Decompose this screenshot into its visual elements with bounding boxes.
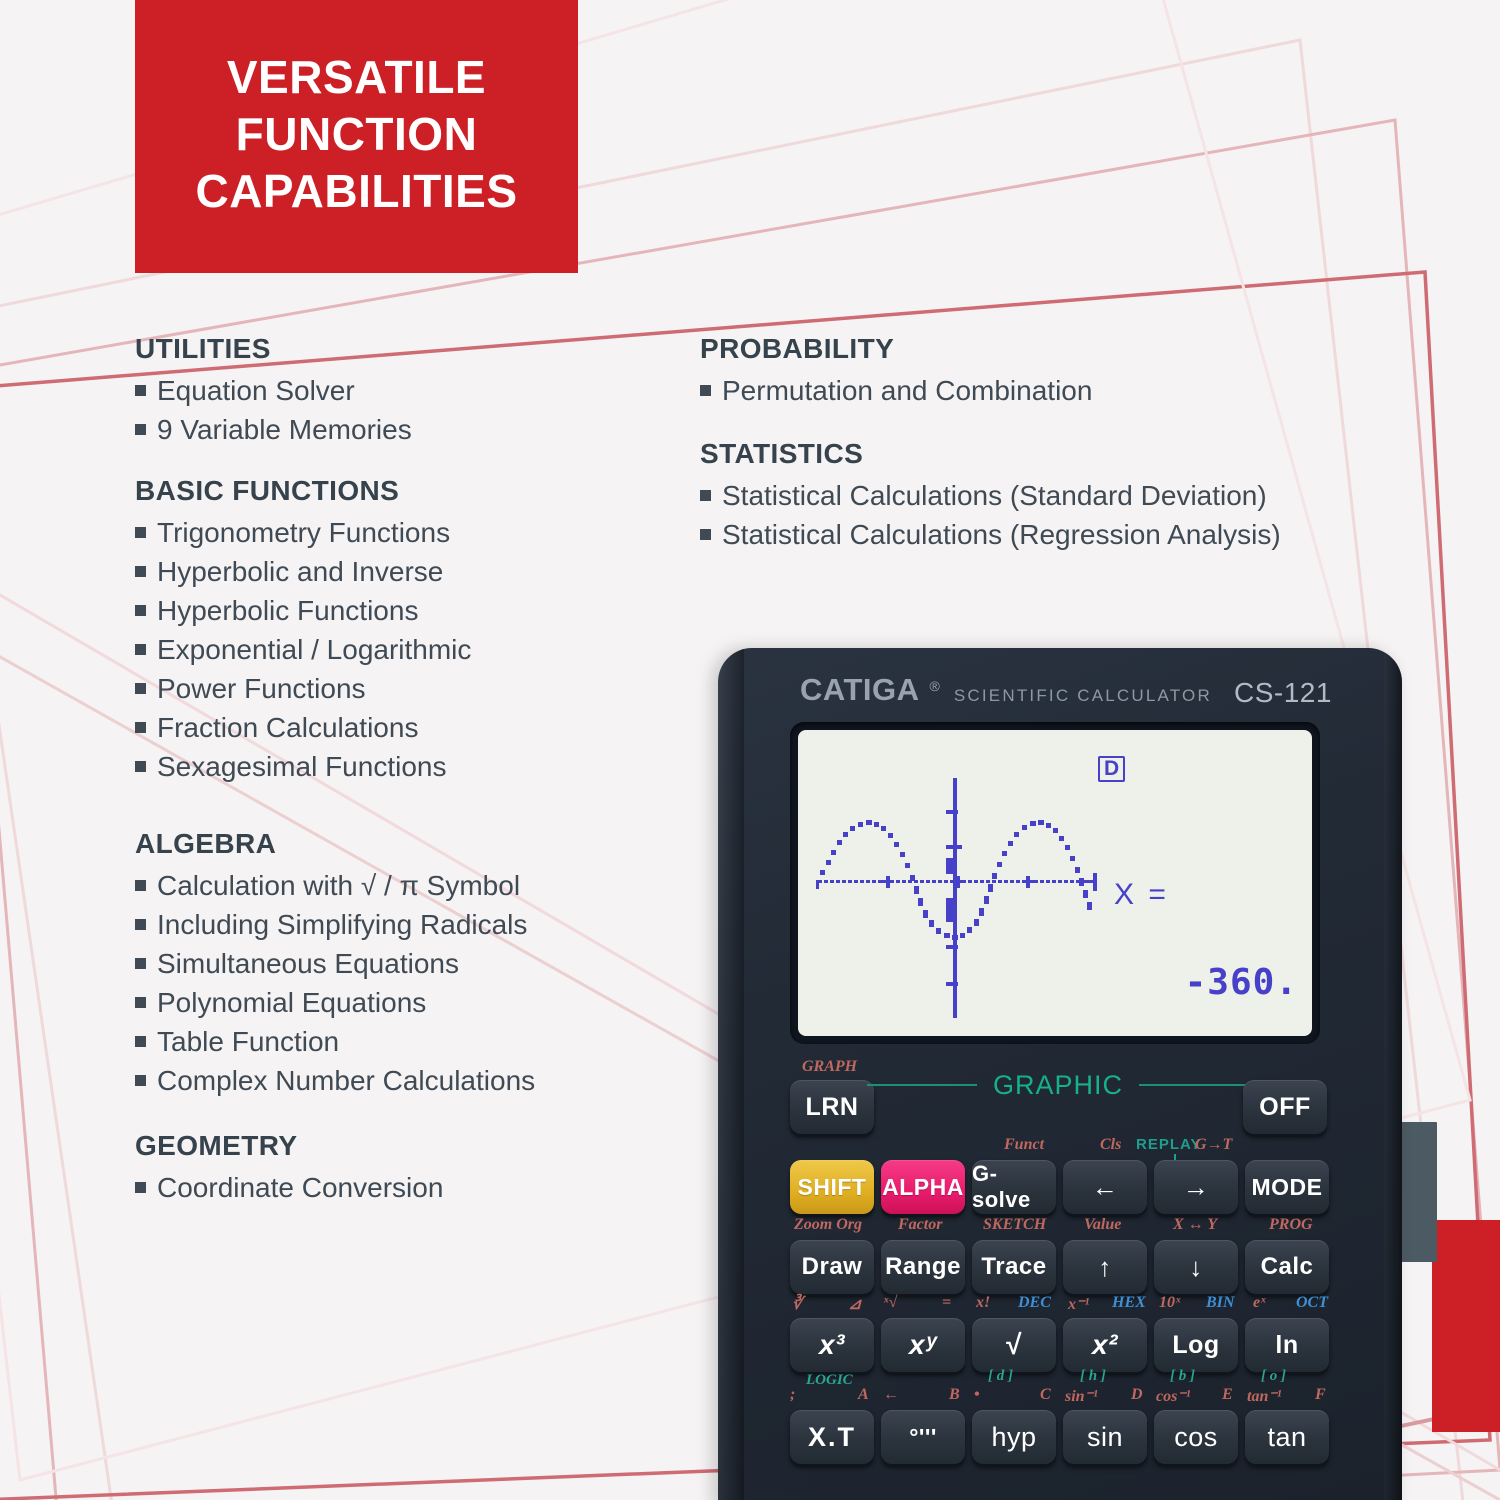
key-mode[interactable]: MODE bbox=[1245, 1160, 1329, 1214]
bullet-icon bbox=[135, 1182, 146, 1193]
bullet-icon bbox=[135, 997, 146, 1008]
key-label-bin: BIN bbox=[1206, 1294, 1234, 1312]
list-item: Table Function bbox=[135, 1022, 680, 1061]
calculator-device: CATIGA ® SCIENTIFIC CALCULATOR CS-121 bbox=[718, 648, 1402, 1500]
key-alpha[interactable]: ALPHA bbox=[881, 1160, 965, 1214]
key-x-squared[interactable]: x² bbox=[1063, 1318, 1147, 1372]
list-item-label: Fraction Calculations bbox=[157, 708, 418, 747]
list-item-label: Statistical Calculations (Standard Devia… bbox=[722, 476, 1267, 515]
list-item: Hyperbolic and Inverse bbox=[135, 552, 680, 591]
section-heading: PROBABILITY bbox=[700, 333, 1275, 365]
bullet-icon bbox=[135, 1075, 146, 1086]
key-label-bracket-d: [ d ] bbox=[988, 1368, 1013, 1385]
key-label-a: A bbox=[858, 1386, 869, 1404]
list-item: Hyperbolic Functions bbox=[135, 591, 680, 630]
key-label-bracket-b: [ b ] bbox=[1170, 1368, 1195, 1385]
list-item: Permutation and Combination bbox=[700, 371, 1275, 410]
key-g-solve[interactable]: G-solve bbox=[972, 1160, 1056, 1214]
key-label-hex: HEX bbox=[1112, 1294, 1146, 1312]
feature-list: Equation Solver 9 Variable Memories bbox=[135, 371, 680, 449]
list-item: Equation Solver bbox=[135, 371, 680, 410]
mode-indicator-badge: D bbox=[1098, 756, 1125, 782]
list-item: Calculation with √ / π Symbol bbox=[135, 866, 680, 905]
list-item: Exponential / Logarithmic bbox=[135, 630, 680, 669]
bullet-icon bbox=[135, 424, 146, 435]
feature-column-left: UTILITIES Equation Solver 9 Variable Mem… bbox=[135, 333, 680, 1233]
key-arrow-up[interactable]: ↑ bbox=[1063, 1240, 1147, 1294]
keypad-row-1: GRAPH LRN GRAPHIC OFF bbox=[718, 1058, 1402, 1138]
divider-right bbox=[1139, 1084, 1249, 1086]
calculator-keypad: GRAPH LRN GRAPHIC OFF Funct Cls REPLAY G… bbox=[718, 1058, 1402, 1458]
bullet-icon bbox=[135, 761, 146, 772]
key-label-cls: Cls bbox=[1100, 1136, 1121, 1154]
section-utilities: UTILITIES Equation Solver 9 Variable Mem… bbox=[135, 333, 680, 449]
list-item: Complex Number Calculations bbox=[135, 1061, 680, 1100]
list-item-label: Coordinate Conversion bbox=[157, 1168, 443, 1207]
key-label-sin-inverse: sin⁻¹ bbox=[1065, 1386, 1098, 1406]
list-item-label: Hyperbolic Functions bbox=[157, 591, 418, 630]
key-label-bracket-o: [ o ] bbox=[1261, 1368, 1286, 1385]
list-item-label: Calculation with √ / π Symbol bbox=[157, 866, 520, 905]
list-item-label: 9 Variable Memories bbox=[157, 410, 412, 449]
list-item: Polynomial Equations bbox=[135, 983, 680, 1022]
key-label-funct: Funct bbox=[1004, 1136, 1044, 1154]
bullet-icon bbox=[135, 527, 146, 538]
list-item-label: Exponential / Logarithmic bbox=[157, 630, 471, 669]
key-range[interactable]: Range bbox=[881, 1240, 965, 1294]
bullet-icon bbox=[700, 529, 711, 540]
key-arrow-down[interactable]: ↓ bbox=[1154, 1240, 1238, 1294]
key-label-value: Value bbox=[1084, 1216, 1121, 1234]
brand-name: CATIGA bbox=[800, 672, 920, 708]
lcd-bezel: D X = -360. bbox=[790, 722, 1320, 1044]
key-label-ten-pow-x: 10ˣ bbox=[1159, 1294, 1180, 1312]
key-sin[interactable]: sin bbox=[1063, 1410, 1147, 1464]
key-label-cube-root: ∛ bbox=[792, 1294, 802, 1314]
key-x-t[interactable]: X.T bbox=[790, 1410, 874, 1464]
list-item-label: Power Functions bbox=[157, 669, 366, 708]
section-heading: UTILITIES bbox=[135, 333, 680, 365]
key-label-x-swap-y: X ↔ Y bbox=[1173, 1216, 1217, 1234]
section-algebra: ALGEBRA Calculation with √ / π Symbol In… bbox=[135, 828, 680, 1100]
key-arrow-left[interactable]: ← bbox=[1063, 1160, 1147, 1214]
list-item: Coordinate Conversion bbox=[135, 1168, 680, 1207]
key-label-logic: LOGIC bbox=[806, 1372, 853, 1389]
page-title: VERSATILE FUNCTION CAPABILITIES bbox=[195, 49, 517, 224]
bullet-icon bbox=[135, 566, 146, 577]
feature-list: Trigonometry Functions Hyperbolic and In… bbox=[135, 513, 680, 786]
key-label-replay: REPLAY bbox=[1136, 1136, 1201, 1153]
feature-column-right: PROBABILITY Permutation and Combination … bbox=[700, 333, 1275, 580]
keypad-row-2: Funct Cls REPLAY G→T SHIFT ALPHA G-solve… bbox=[718, 1138, 1402, 1218]
bullet-icon bbox=[135, 644, 146, 655]
key-x-pow-y[interactable]: xʸ bbox=[881, 1318, 965, 1372]
key-label-tan-inverse: tan⁻¹ bbox=[1247, 1386, 1282, 1406]
keypad-row-4: ∛ ⊿ ˣ√ = x! DEC x⁻¹ HEX 10ˣ BIN eˣ OCT x… bbox=[718, 1298, 1402, 1378]
list-item: Fraction Calculations bbox=[135, 708, 680, 747]
lcd-prompt: X = bbox=[1114, 878, 1169, 912]
registered-mark-icon: ® bbox=[930, 678, 940, 694]
list-item: Sexagesimal Functions bbox=[135, 747, 680, 786]
graphic-band: GRAPHIC bbox=[838, 1070, 1278, 1100]
brand-model: CS-121 bbox=[1234, 677, 1332, 709]
poster-root: VERSATILE FUNCTION CAPABILITIES UTILITIE… bbox=[0, 0, 1500, 1500]
list-item-label: Hyperbolic and Inverse bbox=[157, 552, 443, 591]
key-label-g-to-t: G→T bbox=[1195, 1136, 1232, 1154]
key-draw[interactable]: Draw bbox=[790, 1240, 874, 1294]
section-heading: STATISTICS bbox=[700, 438, 1275, 470]
key-label-x-inverse: x⁻¹ bbox=[1068, 1294, 1089, 1314]
key-label-nth-root: ˣ√ bbox=[883, 1294, 897, 1312]
list-item-label: Equation Solver bbox=[157, 371, 355, 410]
section-heading: GEOMETRY bbox=[135, 1130, 680, 1162]
key-square-root[interactable]: √ bbox=[972, 1318, 1056, 1372]
lcd-value: -360. bbox=[1185, 962, 1298, 1003]
key-degree-minute-second[interactable]: °''' bbox=[881, 1410, 965, 1464]
brand-subtitle: SCIENTIFIC CALCULATOR bbox=[954, 686, 1212, 706]
feature-list: Statistical Calculations (Standard Devia… bbox=[700, 476, 1275, 554]
key-label-prog: PROG bbox=[1269, 1216, 1313, 1234]
list-item-label: Trigonometry Functions bbox=[157, 513, 450, 552]
key-x-cubed[interactable]: x³ bbox=[790, 1318, 874, 1372]
key-shift[interactable]: SHIFT bbox=[790, 1160, 874, 1214]
list-item-label: Table Function bbox=[157, 1022, 339, 1061]
feature-list: Calculation with √ / π Symbol Including … bbox=[135, 866, 680, 1100]
list-item: Statistical Calculations (Regression Ana… bbox=[700, 515, 1275, 554]
key-ln[interactable]: ln bbox=[1245, 1318, 1329, 1372]
list-item-label: Simultaneous Equations bbox=[157, 944, 459, 983]
divider-left bbox=[867, 1084, 977, 1086]
list-item-label: Sexagesimal Functions bbox=[157, 747, 446, 786]
bullet-icon bbox=[135, 722, 146, 733]
key-arrow-right[interactable]: → bbox=[1154, 1160, 1238, 1214]
keypad-row-5: LOGIC [ d ] [ h ] [ b ] [ o ] ; A ← B • … bbox=[718, 1378, 1402, 1458]
bullet-icon bbox=[700, 385, 711, 396]
section-statistics: STATISTICS Statistical Calculations (Sta… bbox=[700, 438, 1275, 554]
bullet-icon bbox=[135, 880, 146, 891]
key-label-bracket-h: [ h ] bbox=[1080, 1368, 1106, 1385]
page-title-line-3: CAPABILITIES bbox=[195, 163, 517, 220]
section-geometry: GEOMETRY Coordinate Conversion bbox=[135, 1130, 680, 1207]
key-label-factorial: x! bbox=[976, 1294, 990, 1312]
bullet-icon bbox=[135, 605, 146, 616]
list-item: 9 Variable Memories bbox=[135, 410, 680, 449]
key-cos[interactable]: cos bbox=[1154, 1410, 1238, 1464]
key-calc[interactable]: Calc bbox=[1245, 1240, 1329, 1294]
bullet-icon bbox=[700, 490, 711, 501]
key-log[interactable]: Log bbox=[1154, 1318, 1238, 1372]
bullet-icon bbox=[135, 683, 146, 694]
bullet-icon bbox=[135, 1036, 146, 1047]
bullet-icon bbox=[135, 919, 146, 930]
feature-list: Coordinate Conversion bbox=[135, 1168, 680, 1207]
key-off[interactable]: OFF bbox=[1243, 1080, 1327, 1134]
section-heading: ALGEBRA bbox=[135, 828, 680, 860]
calculator-branding: CATIGA ® SCIENTIFIC CALCULATOR CS-121 bbox=[800, 672, 1360, 708]
list-item: Power Functions bbox=[135, 669, 680, 708]
section-probability: PROBABILITY Permutation and Combination bbox=[700, 333, 1275, 410]
key-label-semicolon: ; bbox=[790, 1386, 795, 1404]
key-label-oct: OCT bbox=[1296, 1294, 1328, 1312]
list-item-label: Including Simplifying Radicals bbox=[157, 905, 527, 944]
key-trace[interactable]: Trace bbox=[972, 1240, 1056, 1294]
bullet-icon bbox=[135, 958, 146, 969]
bullet-icon bbox=[135, 385, 146, 396]
key-label-delta: ⊿ bbox=[848, 1294, 861, 1314]
list-item: Simultaneous Equations bbox=[135, 944, 680, 983]
graphic-band-label: GRAPHIC bbox=[993, 1070, 1123, 1101]
key-label-e-pow-x: eˣ bbox=[1253, 1294, 1266, 1312]
calculator-side-tab bbox=[1397, 1122, 1437, 1262]
key-label-sketch: SKETCH bbox=[983, 1216, 1046, 1234]
key-label-e: E bbox=[1222, 1386, 1233, 1404]
key-label-dot: • bbox=[974, 1386, 980, 1404]
list-item-label: Permutation and Combination bbox=[722, 371, 1092, 410]
key-label-equals: = bbox=[942, 1294, 951, 1312]
section-basic-functions: BASIC FUNCTIONS Trigonometry Functions H… bbox=[135, 475, 680, 786]
list-item: Including Simplifying Radicals bbox=[135, 905, 680, 944]
key-label-b: B bbox=[949, 1386, 960, 1404]
list-item-label: Complex Number Calculations bbox=[157, 1061, 535, 1100]
list-item-label: Polynomial Equations bbox=[157, 983, 426, 1022]
key-label-zoom-org: Zoom Org bbox=[794, 1216, 862, 1234]
page-title-line-2: FUNCTION bbox=[195, 106, 517, 163]
key-label-f: F bbox=[1315, 1386, 1326, 1404]
key-label-c: C bbox=[1040, 1386, 1051, 1404]
list-item: Statistical Calculations (Standard Devia… bbox=[700, 476, 1275, 515]
key-tan[interactable]: tan bbox=[1245, 1410, 1329, 1464]
page-title-block: VERSATILE FUNCTION CAPABILITIES bbox=[135, 0, 578, 273]
list-item-label: Statistical Calculations (Regression Ana… bbox=[722, 515, 1281, 554]
keypad-row-3: Zoom Org Factor SKETCH Value X ↔ Y PROG … bbox=[718, 1218, 1402, 1298]
bottom-right-red-block bbox=[1432, 1220, 1500, 1432]
key-label-factor: Factor bbox=[898, 1216, 942, 1234]
key-label-dec: DEC bbox=[1018, 1294, 1051, 1312]
feature-list: Permutation and Combination bbox=[700, 371, 1275, 410]
key-hyp[interactable]: hyp bbox=[972, 1410, 1056, 1464]
list-item: Trigonometry Functions bbox=[135, 513, 680, 552]
key-label-cos-inverse: cos⁻¹ bbox=[1156, 1386, 1191, 1406]
page-title-line-1: VERSATILE bbox=[195, 49, 517, 106]
key-label-d: D bbox=[1131, 1386, 1143, 1404]
section-heading: BASIC FUNCTIONS bbox=[135, 475, 680, 507]
key-label-arrow-left-alt: ← bbox=[883, 1386, 899, 1404]
lcd-screen: D X = -360. bbox=[798, 730, 1312, 1036]
